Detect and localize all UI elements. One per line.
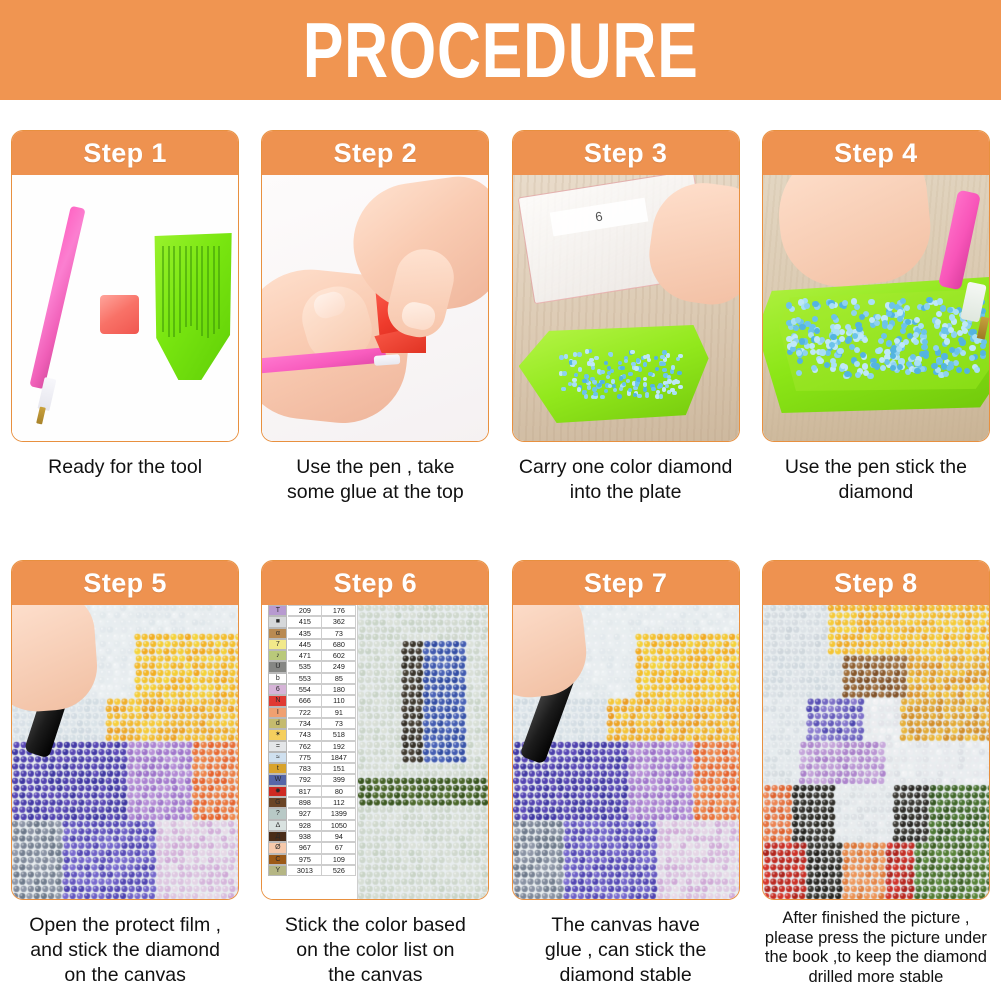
dmc-code: 762	[288, 741, 322, 752]
color-list-row: W792399	[268, 774, 357, 785]
caption-line: Carry one color diamond	[510, 455, 742, 480]
tools-illustration	[12, 175, 238, 442]
dmc-code: 898	[288, 797, 322, 808]
step-8-caption: After finished the picture , please pres…	[750, 909, 1001, 987]
color-swatch: ✹	[268, 786, 287, 797]
step-1-image	[12, 175, 238, 442]
bead-count: 73	[322, 718, 356, 729]
step-8-image	[763, 605, 989, 900]
bead-count: 80	[322, 786, 356, 797]
color-swatch: I	[268, 707, 287, 718]
step-card-3: Step 3 6	[501, 130, 751, 530]
step-card-1: Step 1	[0, 130, 250, 530]
procedure-infographic: PROCEDURE Step 1	[0, 0, 1001, 1001]
color-swatch: ■	[268, 616, 287, 627]
step-6-image: T209176■415362α435737445680♪471602U53524…	[262, 605, 488, 900]
color-swatch: W	[268, 774, 287, 785]
bead-count: 85	[322, 673, 356, 684]
pour-diamonds-illustration: 6	[513, 175, 739, 442]
dmc-code: 666	[288, 695, 322, 706]
caption-line: some glue at the top	[259, 480, 491, 505]
step-1-header-label: Step 1	[83, 138, 166, 169]
bead-count: 399	[322, 774, 356, 785]
color-list-row: =762192	[268, 741, 357, 752]
color-swatch: b	[268, 673, 287, 684]
color-list-row: U535249	[268, 661, 357, 672]
step-5-header: Step 5	[12, 561, 238, 605]
color-list-row: C975109	[268, 854, 357, 865]
color-list-row: ?9271399	[268, 808, 357, 819]
step-card-8: Step 8 After finished the picture , plea…	[751, 560, 1001, 1001]
step-1-card: Step 1	[11, 130, 239, 442]
step-card-6: Step 6 T209176■415362α435737445680♪47160…	[250, 560, 500, 1001]
color-swatch: ≈	[268, 752, 287, 763]
color-list-row: Ø96767	[268, 842, 357, 853]
step-3-card: Step 3 6	[512, 130, 740, 442]
bead-count: 1050	[322, 820, 356, 831]
canvas-beads-illustration	[12, 605, 238, 900]
color-list-table: T209176■415362α435737445680♪471602U53524…	[262, 605, 358, 900]
color-swatch: T	[268, 605, 287, 616]
color-list-row: ■415362	[268, 616, 357, 627]
color-list-row: ♪471602	[268, 650, 357, 661]
caption-line: the canvas	[259, 963, 491, 988]
color-list-row: t783151	[268, 763, 357, 774]
color-list-row: Д93894	[268, 831, 357, 842]
dmc-code: 471	[288, 650, 322, 661]
step-7-image	[513, 605, 739, 900]
bead-count: 94	[322, 831, 356, 842]
pen-pick-diamond-illustration	[763, 175, 989, 442]
bead-count: 602	[322, 650, 356, 661]
dmc-code: 415	[288, 616, 322, 627]
caption-line: the book ,to keep the diamond	[750, 948, 1001, 968]
bead-count: 518	[322, 729, 356, 740]
dmc-code: 722	[288, 707, 322, 718]
dmc-code: 209	[288, 605, 322, 616]
bead-count: 112	[322, 797, 356, 808]
color-list-row: I72291	[268, 707, 357, 718]
step-5-image	[12, 605, 238, 900]
caption-line: Use the pen stick the	[760, 455, 992, 480]
step-2-image	[262, 175, 488, 442]
color-swatch: ✶	[268, 729, 287, 740]
step-6-header: Step 6	[262, 561, 488, 605]
caption-line: please press the picture under	[750, 929, 1001, 949]
caption-line: glue , can stick the	[510, 938, 742, 963]
step-card-5: Step 5 Open the protect film , and stick…	[0, 560, 250, 1001]
step-2-header-label: Step 2	[334, 138, 417, 169]
caption-line: into the plate	[510, 480, 742, 505]
step-5-header-label: Step 5	[83, 568, 166, 599]
caption-line: Ready for the tool	[9, 455, 241, 480]
dmc-code: 435	[288, 628, 322, 639]
color-list-row: 6554180	[268, 684, 357, 695]
color-list-row: ∆9281050	[268, 820, 357, 831]
dmc-code: 928	[288, 820, 322, 831]
color-swatch: C	[268, 854, 287, 865]
step-2-header: Step 2	[262, 131, 488, 175]
finished-painting-illustration	[763, 605, 989, 900]
bead-count: 176	[322, 605, 356, 616]
dmc-code: 554	[288, 684, 322, 695]
steps-row-1: Step 1	[0, 130, 1001, 530]
step-4-header-label: Step 4	[834, 138, 917, 169]
step-5-caption: Open the protect film , and stick the di…	[9, 913, 241, 988]
color-swatch: Y	[268, 865, 287, 876]
caption-line: diamond	[760, 480, 992, 505]
step-4-card: Step 4	[762, 130, 990, 442]
dmc-code: 817	[288, 786, 322, 797]
step-3-header-label: Step 3	[584, 138, 667, 169]
color-swatch: α	[268, 628, 287, 639]
glue-square-icon	[100, 295, 139, 334]
color-list-illustration: T209176■415362α435737445680♪471602U53524…	[262, 605, 488, 900]
dmc-code: 734	[288, 718, 322, 729]
caption-line: on the color list on	[259, 938, 491, 963]
caption-line: Use the pen , take	[259, 455, 491, 480]
dmc-code: 3013	[288, 865, 322, 876]
dmc-code: 553	[288, 673, 322, 684]
caption-line: After finished the picture ,	[750, 909, 1001, 929]
step-8-header: Step 8	[763, 561, 989, 605]
bead-count: 1399	[322, 808, 356, 819]
step-7-card: Step 7	[512, 560, 740, 900]
caption-line: Open the protect film ,	[9, 913, 241, 938]
dmc-code: 743	[288, 729, 322, 740]
step-2-caption: Use the pen , take some glue at the top	[259, 455, 491, 505]
step-card-7: Step 7 The canvas have glue , can stick …	[501, 560, 751, 1001]
color-list-row: Y3013526	[268, 865, 357, 876]
bead-count: 192	[322, 741, 356, 752]
page-banner: PROCEDURE	[0, 0, 1001, 100]
dmc-code: 775	[288, 752, 322, 763]
step-4-caption: Use the pen stick the diamond	[760, 455, 992, 505]
canvas-photo	[358, 605, 488, 900]
caption-line: and stick the diamond	[9, 938, 241, 963]
step-3-caption: Carry one color diamond into the plate	[510, 455, 742, 505]
color-swatch: G	[268, 797, 287, 808]
step-4-header: Step 4	[763, 131, 989, 175]
dmc-code: 975	[288, 854, 322, 865]
caption-line: The canvas have	[510, 913, 742, 938]
color-list-row: 7445680	[268, 639, 357, 650]
steps-grid: Step 1	[0, 100, 1001, 1001]
step-3-header: Step 3	[513, 131, 739, 175]
color-swatch: 7	[268, 639, 287, 650]
color-list-row: ✹81780	[268, 786, 357, 797]
bead-count: 362	[322, 616, 356, 627]
dmc-code: 927	[288, 808, 322, 819]
step-6-card: Step 6 T209176■415362α435737445680♪47160…	[261, 560, 489, 900]
hands-glue-illustration	[262, 175, 488, 442]
step-3-image: 6	[513, 175, 739, 442]
dmc-code: 792	[288, 774, 322, 785]
color-list-row: α43573	[268, 628, 357, 639]
step-7-caption: The canvas have glue , can stick the dia…	[510, 913, 742, 988]
green-tray-icon	[152, 230, 234, 380]
color-list-row: ✶743518	[268, 729, 357, 740]
step-7-header: Step 7	[513, 561, 739, 605]
color-swatch: ∆	[268, 820, 287, 831]
step-card-4: Step 4	[751, 130, 1001, 530]
color-list-row: d73473	[268, 718, 357, 729]
color-list-row: ≈7751847	[268, 752, 357, 763]
page-title: PROCEDURE	[303, 9, 699, 91]
bead-count: 73	[322, 628, 356, 639]
dmc-code: 783	[288, 763, 322, 774]
dmc-code: 938	[288, 831, 322, 842]
bead-count: 1847	[322, 752, 356, 763]
caption-line: Stick the color based	[259, 913, 491, 938]
caption-line: drilled more stable	[750, 968, 1001, 988]
color-list-row: T209176	[268, 605, 357, 616]
step-2-card: Step 2	[261, 130, 489, 442]
color-swatch: ♪	[268, 650, 287, 661]
step-8-card: Step 8	[762, 560, 990, 900]
color-swatch: N	[268, 695, 287, 706]
step-7-header-label: Step 7	[584, 568, 667, 599]
canvas-glue-illustration	[513, 605, 739, 900]
caption-line: diamond stable	[510, 963, 742, 988]
dmc-code: 535	[288, 661, 322, 672]
bead-count: 109	[322, 854, 356, 865]
green-tray-icon	[519, 325, 709, 423]
step-4-image	[763, 175, 989, 442]
steps-row-2: Step 5 Open the protect film , and stick…	[0, 560, 1001, 1001]
color-swatch: U	[268, 661, 287, 672]
color-list-row: G898112	[268, 797, 357, 808]
step-card-2: Step 2	[250, 130, 500, 530]
dmc-code: 445	[288, 639, 322, 650]
bead-count: 180	[322, 684, 356, 695]
step-6-caption: Stick the color based on the color list …	[259, 913, 491, 988]
bead-count: 110	[322, 695, 356, 706]
color-list-row: b55385	[268, 673, 357, 684]
bead-count: 526	[322, 865, 356, 876]
color-swatch: =	[268, 741, 287, 752]
bead-count: 151	[322, 763, 356, 774]
color-swatch: Д	[268, 831, 287, 842]
color-swatch: ?	[268, 808, 287, 819]
step-5-card: Step 5	[11, 560, 239, 900]
step-1-header: Step 1	[12, 131, 238, 175]
bead-count: 680	[322, 639, 356, 650]
caption-line: on the canvas	[9, 963, 241, 988]
bead-count: 249	[322, 661, 356, 672]
color-swatch: Ø	[268, 842, 287, 853]
bead-count: 67	[322, 842, 356, 853]
color-list-row: N666110	[268, 695, 357, 706]
step-6-header-label: Step 6	[334, 568, 417, 599]
step-8-header-label: Step 8	[834, 568, 917, 599]
bead-count: 91	[322, 707, 356, 718]
dmc-code: 967	[288, 842, 322, 853]
step-1-caption: Ready for the tool	[9, 455, 241, 480]
color-swatch: 6	[268, 684, 287, 695]
color-swatch: d	[268, 718, 287, 729]
color-swatch: t	[268, 763, 287, 774]
